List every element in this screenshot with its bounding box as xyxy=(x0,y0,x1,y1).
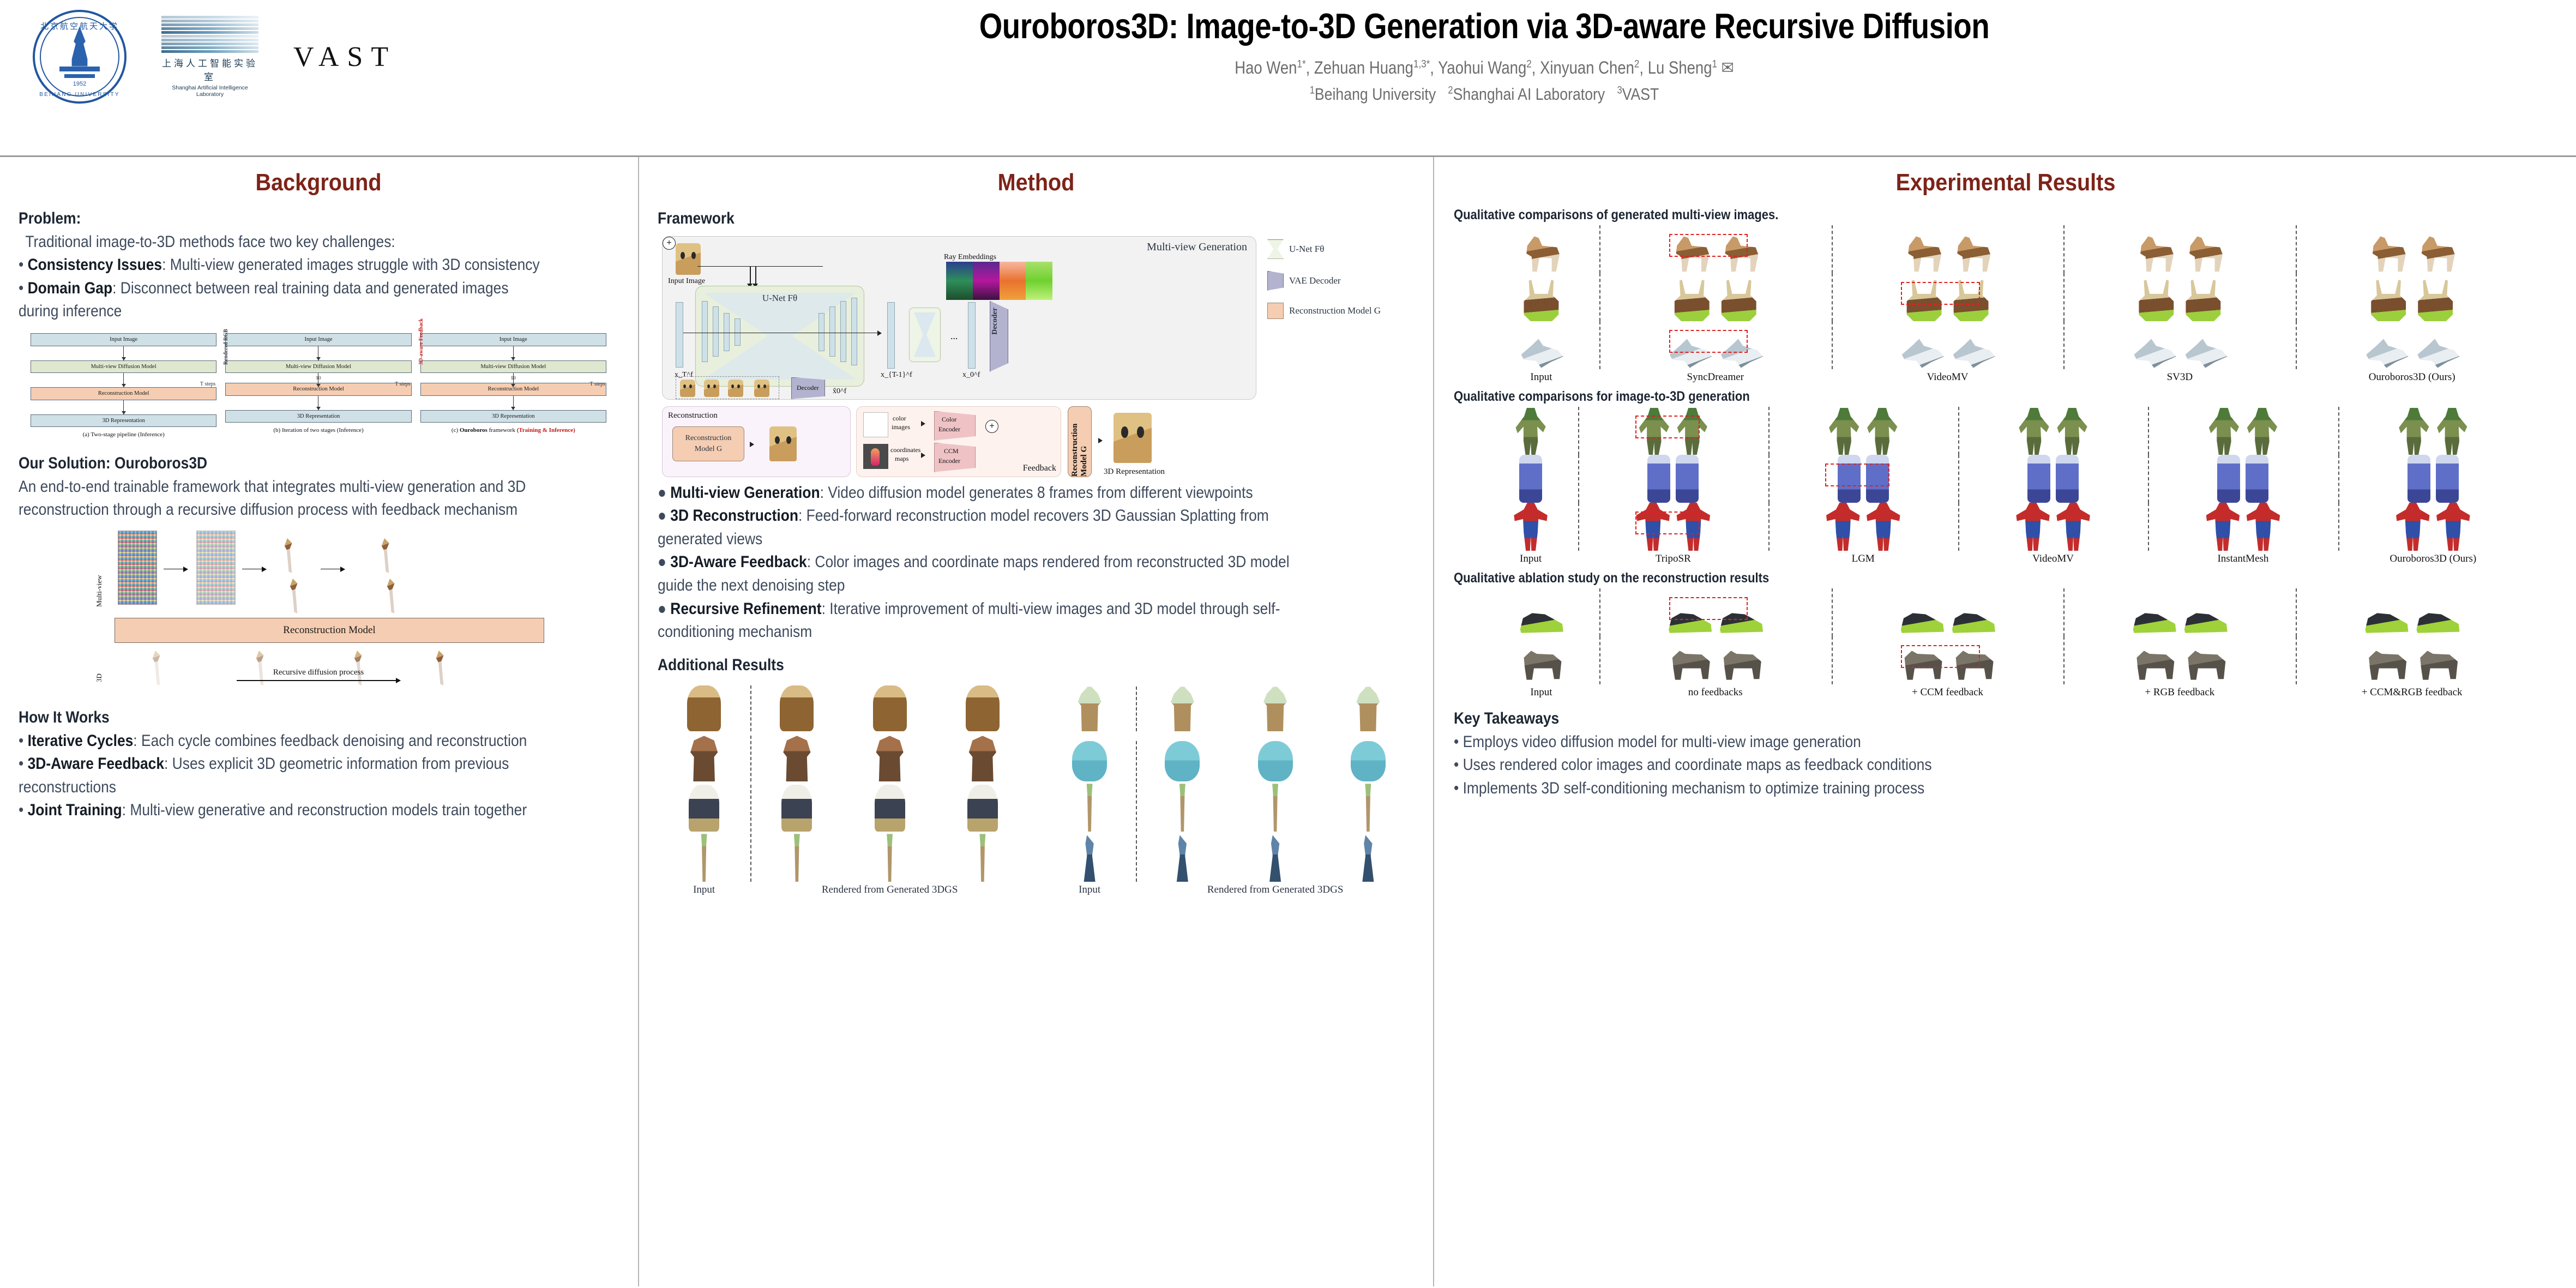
column-label: VideoMV xyxy=(1832,371,2064,383)
reconstruction-model-vertical-block: Reconstruction Model G xyxy=(1068,406,1092,477)
comparison-cell xyxy=(1578,503,1768,551)
beihang-university-logo-icon: 北京航空航天大学 1952 BEIHANG UNIVERSITY xyxy=(33,10,127,104)
pipeline-t-steps-label: T steps xyxy=(200,381,215,387)
comparison-cell xyxy=(1578,407,1768,455)
additional-results-row-item xyxy=(658,832,1029,882)
comparison-cell xyxy=(1483,321,1599,369)
reconstruction-panel-label: Reconstruction xyxy=(668,411,718,420)
column-divider xyxy=(2338,455,2339,503)
how-bullet-1: • 3D-Aware Feedback: Uses explicit 3D ge… xyxy=(19,753,546,799)
unet-block: U-Net Fθ xyxy=(695,286,864,387)
render-thumbnail xyxy=(1513,503,1548,551)
problem-bullet-0: • Consistency Issues: Multi-view generat… xyxy=(19,254,546,277)
ccm-encoder-label-1: CCM xyxy=(944,447,959,455)
how-bullet-2: • Joint Training: Multi-view generative … xyxy=(19,799,546,822)
comparison-cell xyxy=(2296,321,2528,369)
render-thumbnail xyxy=(1518,646,1564,684)
reconstruction-panel: Reconstruction Reconstruction Model G xyxy=(662,406,851,477)
comparison-cell xyxy=(1599,273,1832,321)
comparison-cell xyxy=(1958,407,2148,455)
render-thumbnail xyxy=(787,834,806,882)
comparison-cell xyxy=(1599,636,1832,684)
decoder-vertical-label: Decoder xyxy=(991,308,1000,335)
comparison-cell xyxy=(1483,273,1599,321)
poster-header: 北京航空航天大学 1952 BEIHANG UNIVERSITY 上海人工智能实… xyxy=(0,0,2576,157)
comparison-cell xyxy=(1483,455,1578,503)
color-images-label-2: images xyxy=(892,423,910,431)
highlight-box xyxy=(1669,234,1748,257)
render-thumbnail xyxy=(2363,608,2409,636)
comparison-cell xyxy=(2063,321,2296,369)
render-thumbnail xyxy=(1718,646,1764,684)
highlight-box xyxy=(1825,464,1889,486)
render-thumbnail xyxy=(1165,741,1200,781)
column-divider xyxy=(1958,407,1959,455)
pipeline-node-3: 3D Representation xyxy=(31,414,216,428)
render-thumbnail xyxy=(2363,646,2409,684)
render-thumbnail xyxy=(2398,408,2430,455)
render-thumbnail xyxy=(2056,455,2079,503)
additional-results-cell xyxy=(1043,687,1136,731)
comparison-grid: InputTripoSRLGMVideoMVInstantMeshOurobor… xyxy=(1483,407,2528,565)
additional-results-cell xyxy=(936,834,1029,882)
comparison-grid: Inputno feedbacks+ CCM feedback+ RGB fee… xyxy=(1483,588,2528,699)
comparison-cell xyxy=(2338,407,2528,455)
additional-results-cell xyxy=(936,785,1029,832)
column-divider xyxy=(1832,636,1833,684)
recursive-diffusion-figure: Multi-view 3D Reconstruction Model Recur… xyxy=(89,526,547,690)
render-thumbnail xyxy=(689,785,719,832)
pipeline-t-steps-label: T steps xyxy=(395,381,410,387)
render-thumbnail xyxy=(2135,280,2177,321)
column-divider xyxy=(2148,503,2149,551)
results-block2-grid: InputTripoSRLGMVideoMVInstantMeshOurobor… xyxy=(1454,407,2557,565)
pipeline-node-2: Reconstruction Model xyxy=(31,387,216,400)
input-image-label: Input Image xyxy=(668,277,705,286)
buaa-year: 1952 xyxy=(33,81,127,87)
render-thumbnail xyxy=(1667,646,1713,684)
comparison-cell xyxy=(1832,588,2064,636)
render-thumbnail xyxy=(2415,234,2458,273)
pipeline-node-3: 3D Representation xyxy=(420,410,606,423)
comparison-row xyxy=(1483,321,2528,369)
ray-embeddings-swatch xyxy=(946,262,1052,300)
affiliation-list: 1Beihang University 2Shanghai AI Laborat… xyxy=(564,85,2405,104)
render-thumbnail xyxy=(1826,503,1861,551)
additional-results-cell xyxy=(1229,741,1322,781)
comparison-cell xyxy=(1832,225,2064,273)
column-divider xyxy=(1958,455,1959,503)
render-thumbnail xyxy=(2131,338,2177,369)
column-divider xyxy=(1599,588,1600,636)
solution-heading: Our Solution: Ouroboros3D xyxy=(19,452,546,476)
additional-results-cell xyxy=(844,736,936,781)
legend-vae-icon xyxy=(1267,271,1284,291)
column-divider xyxy=(1136,687,1137,731)
pipeline-t-steps-label: T steps xyxy=(590,381,605,387)
column-divider xyxy=(1578,503,1579,551)
comparison-row xyxy=(1483,503,2528,551)
ray-embeddings-label: Ray Embeddings xyxy=(944,253,996,262)
column-divider xyxy=(1599,225,1600,273)
comparison-cell xyxy=(2063,636,2296,684)
render-thumbnail xyxy=(2408,455,2430,503)
pipeline-rendered-rgb-label: Rendered RGB xyxy=(223,329,229,365)
latent-x0-label: x_0^f xyxy=(962,371,980,380)
render-thumbnail xyxy=(1259,687,1292,731)
additional-label-rendered: Rendered from Generated 3DGS xyxy=(1136,884,1415,896)
column-label: Input xyxy=(1483,553,1578,565)
reconstructed-object-thumbnail xyxy=(769,426,797,461)
framework-legend: U-Net Fθ VAE Decoder Reconstruction Mode… xyxy=(1267,239,1398,331)
recursive-figure-caption: Recursive diffusion process xyxy=(89,668,547,681)
render-thumbnail xyxy=(687,685,721,731)
column-label: VideoMV xyxy=(1958,553,2148,565)
additional-results-cell xyxy=(750,736,843,781)
key-takeaways-list: • Employs video diffusion model for mult… xyxy=(1454,731,2557,801)
legend-label-1: VAE Decoder xyxy=(1289,275,1341,286)
key-takeaways-heading: Key Takeaways xyxy=(1454,707,2425,731)
render-thumbnail xyxy=(967,785,998,832)
additional-results-row-item xyxy=(658,681,1029,731)
render-thumbnail xyxy=(1352,687,1385,731)
column-label: LGM xyxy=(1768,553,1958,565)
takeaway-1: • Uses rendered color images and coordin… xyxy=(1454,754,2425,777)
column-divider xyxy=(1832,588,1833,636)
comparison-cell xyxy=(2338,455,2528,503)
vast-logo-icon: VAST xyxy=(293,41,396,73)
xhat-label: x̂0^f xyxy=(833,387,846,396)
render-thumbnail xyxy=(2182,234,2226,273)
render-thumbnail xyxy=(695,834,713,882)
column-label: SV3D xyxy=(2063,371,2296,383)
additional-results-cell xyxy=(1043,835,1136,882)
render-thumbnail xyxy=(2217,455,2240,503)
additional-label-input: Input xyxy=(658,884,750,896)
column-label-row: InputTripoSRLGMVideoMVInstantMeshOurobor… xyxy=(1483,553,2528,565)
render-thumbnail xyxy=(2182,280,2224,321)
reconstruction-model-line2: Model G xyxy=(695,444,722,455)
render-thumbnail xyxy=(2366,234,2409,273)
comparison-cell xyxy=(2296,273,2528,321)
additional-results-cell xyxy=(750,785,843,832)
figure-row-label-multiview: Multi-view xyxy=(95,575,104,607)
how-it-works-heading: How It Works xyxy=(19,706,546,730)
pipeline-caption-0: (a) Two-stage pipeline (Inference) xyxy=(31,431,216,438)
results-block3-grid: Inputno feedbacks+ CCM feedback+ RGB fee… xyxy=(1454,588,2557,699)
color-encoder-label-2: Encoder xyxy=(938,425,960,434)
additional-results-cell xyxy=(1322,687,1415,731)
unet-label: U-Net Fθ xyxy=(696,293,864,304)
render-thumbnail xyxy=(966,685,1000,731)
method-bullet-0: ● Multi-view Generation: Video diffusion… xyxy=(658,482,1323,505)
render-thumbnail xyxy=(2133,234,2177,273)
comparison-row xyxy=(1483,455,2528,503)
addition-node-icon: + xyxy=(663,237,676,250)
comparison-cell xyxy=(1483,407,1578,455)
comparison-cell xyxy=(2063,588,2296,636)
column-divider xyxy=(1578,407,1579,455)
additional-results-labels: InputRendered from Generated 3DGS xyxy=(1043,884,1415,896)
column-divider xyxy=(750,834,751,882)
render-thumbnail xyxy=(2131,608,2177,636)
render-thumbnail xyxy=(780,685,814,731)
render-thumbnail xyxy=(2415,280,2456,321)
comparison-cell xyxy=(1599,588,1832,636)
ellipsis-label: ... xyxy=(950,330,958,342)
pipeline-node-1: Multi-view Diffusion Model xyxy=(420,360,606,374)
render-thumbnail xyxy=(2205,503,2240,551)
comparison-cell xyxy=(1578,455,1768,503)
sail-english-name: Shanghai Artificial Intelligence Laborat… xyxy=(158,85,262,98)
render-thumbnail xyxy=(1718,280,1760,321)
comparison-cell xyxy=(2148,503,2338,551)
column-label: Input xyxy=(1483,687,1599,699)
additional-results-cell xyxy=(1136,687,1229,731)
render-thumbnail xyxy=(1355,835,1381,882)
column-divider xyxy=(2063,588,2065,636)
additional-results-row-item xyxy=(1043,731,1415,781)
input-image-thumbnail xyxy=(676,243,701,275)
solution-text: An end-to-end trainable framework that i… xyxy=(19,476,546,522)
comparison-cell xyxy=(2063,225,2296,273)
color-images-stack xyxy=(863,412,888,437)
additional-results-cell xyxy=(1322,741,1415,781)
render-thumbnail xyxy=(1173,784,1191,832)
render-thumbnail xyxy=(2436,503,2471,551)
section-title-method: Method xyxy=(695,169,1376,196)
comparison-cell xyxy=(1483,588,1599,636)
additional-results-labels: InputRendered from Generated 3DGS xyxy=(658,884,1029,896)
render-thumbnail xyxy=(973,834,992,882)
column-divider xyxy=(1768,455,1770,503)
framework-diagram: Multi-view Generation Input Image Ray Em… xyxy=(662,236,1410,400)
column-label: TripoSR xyxy=(1578,553,1768,565)
comparison-cell xyxy=(1832,321,2064,369)
comparison-cell xyxy=(1958,455,2148,503)
feedback-sum-node-icon: + xyxy=(985,420,998,433)
page-title: Ouroboros3D: Image-to-3D Generation via … xyxy=(586,5,2383,47)
additional-results-cell xyxy=(844,685,936,731)
method-bullet-list: ● Multi-view Generation: Video diffusion… xyxy=(658,482,1415,644)
column-divider xyxy=(1832,321,1833,369)
column-divider xyxy=(1832,225,1833,273)
method-bullet-1: ● 3D Reconstruction: Feed-forward recons… xyxy=(658,504,1323,551)
render-thumbnail xyxy=(1828,408,1861,455)
comparison-grid: InputSyncDreamerVideoMVSV3DOuroboros3D (… xyxy=(1483,225,2528,383)
comparison-cell xyxy=(1483,636,1599,684)
latent-xTm1-label: x_{T-1}^f xyxy=(881,371,912,380)
render-thumbnail xyxy=(2363,338,2409,369)
method-bullet-3: ● Recursive Refinement: Iterative improv… xyxy=(658,598,1323,644)
column-divider xyxy=(2063,273,2065,321)
additional-results-cell xyxy=(844,834,936,882)
additional-results-cell xyxy=(658,685,750,731)
additional-results-row-item xyxy=(1043,832,1415,882)
render-thumbnail xyxy=(779,736,815,781)
comparison-cell xyxy=(2148,455,2338,503)
multiview-generation-panel: Multi-view Generation Input Image Ray Em… xyxy=(662,236,1256,400)
legend-unet-icon xyxy=(1267,239,1284,259)
additional-results-cell xyxy=(1322,784,1415,832)
additional-results-cell xyxy=(658,736,750,781)
column-divider xyxy=(1136,784,1137,832)
pipeline-variant-1: Input ImageMulti-view Diffusion Modelx̂0… xyxy=(225,333,411,438)
comparison-cell xyxy=(2148,407,2338,455)
pipeline-node-0: Input Image xyxy=(31,333,216,346)
column-divider xyxy=(2063,321,2065,369)
additional-label-input: Input xyxy=(1043,884,1136,896)
comparison-cell xyxy=(1483,503,1578,551)
column-divider xyxy=(1136,835,1137,882)
additional-results-block-0: InputRendered from Generated 3DGS xyxy=(658,681,1029,896)
additional-results-grids: InputRendered from Generated 3DGSInputRe… xyxy=(658,681,1415,896)
column-label: no feedbacks xyxy=(1599,687,1832,699)
pipeline-node-1: Multi-view Diffusion Model xyxy=(225,360,411,374)
ccm-encoder-label-2: Encoder xyxy=(938,457,960,465)
render-thumbnail xyxy=(2015,503,2050,551)
column-divider xyxy=(1599,321,1600,369)
column-label: SyncDreamer xyxy=(1599,371,1832,383)
additional-results-cell xyxy=(1229,784,1322,832)
framework-heading: Framework xyxy=(658,207,1323,231)
additional-results-cell xyxy=(750,834,843,882)
takeaway-0: • Employs video diffusion model for mult… xyxy=(1454,731,2425,754)
column-label-row: InputSyncDreamerVideoMVSV3DOuroboros3D (… xyxy=(1483,371,2528,383)
comparison-cell xyxy=(1768,407,1958,455)
additional-results-cell xyxy=(1136,835,1229,882)
comparison-cell xyxy=(2296,636,2528,684)
column-label: + CCM feedback xyxy=(1832,687,2064,699)
render-thumbnail xyxy=(2018,408,2050,455)
feedback-panel: color images Color Encoder coordinates m… xyxy=(856,406,1061,477)
column-label: Input xyxy=(1483,371,1599,383)
additional-results-cell xyxy=(1136,784,1229,832)
additional-label-rendered: Rendered from Generated 3DGS xyxy=(750,884,1029,896)
column-divider xyxy=(2296,321,2297,369)
additional-results-row-item xyxy=(658,731,1029,781)
highlight-box xyxy=(1635,416,1700,438)
additional-results-cell xyxy=(844,785,936,832)
additional-results-cell xyxy=(1043,741,1136,781)
render-thumbnail xyxy=(1262,835,1289,882)
column-divider xyxy=(2148,455,2149,503)
column-divider xyxy=(1578,455,1579,503)
render-thumbnail xyxy=(2368,280,2409,321)
pipeline-node-0: Input Image xyxy=(225,333,411,346)
comparison-cell xyxy=(1483,225,1599,273)
render-thumbnail xyxy=(2027,455,2050,503)
legend-label-2: Reconstruction Model G xyxy=(1289,305,1381,316)
render-thumbnail xyxy=(1899,608,1945,636)
render-thumbnail xyxy=(1166,687,1199,731)
render-thumbnail xyxy=(873,685,907,731)
render-thumbnail xyxy=(1514,408,1547,455)
column-divider xyxy=(1832,273,1833,321)
coordinates-label-1: coordinates xyxy=(890,446,920,454)
column-divider xyxy=(750,785,751,832)
pipeline-variant-0: Input ImageMulti-view Diffusion ModelRec… xyxy=(31,333,216,438)
additional-results-row: InputRendered from Generated 3DGSInputRe… xyxy=(658,681,1415,896)
column-divider xyxy=(2296,273,2297,321)
section-title-results: Experimental Results xyxy=(1509,169,2502,196)
render-thumbnail xyxy=(1901,234,1945,273)
highlight-box xyxy=(1669,597,1748,620)
column-method: Method Framework Multi-view Generation I… xyxy=(638,157,1434,1286)
column-divider xyxy=(2338,503,2339,551)
render-thumbnail xyxy=(1647,455,1670,503)
takeaway-2: • Implements 3D self-conditioning mechan… xyxy=(1454,777,2425,801)
render-thumbnail xyxy=(2246,503,2280,551)
pipeline-variant-2: Input ImageMulti-view Diffusion Modelx̂0… xyxy=(420,333,606,438)
buaa-english-name: BEIHANG UNIVERSITY xyxy=(33,92,127,98)
unet-small-block xyxy=(909,308,941,362)
render-thumbnail xyxy=(2415,646,2460,684)
highlight-box xyxy=(1635,511,1700,534)
render-thumbnail xyxy=(2207,408,2240,455)
column-label-row: Inputno feedbacks+ CCM feedback+ RGB fee… xyxy=(1483,687,2528,699)
results-block3-caption: Qualitative ablation study on the recons… xyxy=(1454,570,2425,586)
additional-results-block-1: InputRendered from Generated 3DGS xyxy=(1043,681,1415,896)
render-thumbnail xyxy=(781,785,812,832)
column-divider xyxy=(2296,636,2297,684)
additional-results-cell xyxy=(1043,784,1136,832)
comparison-row xyxy=(1483,225,2528,273)
pipeline-caption-1: (b) Iteration of two stages (Inference) xyxy=(225,427,411,434)
column-divider xyxy=(2063,636,2065,684)
column-label: + RGB feedback xyxy=(2063,687,2296,699)
legend-recon-icon xyxy=(1267,303,1284,319)
pipeline-caption-2: (c) Ouroboros framework (Training & Infe… xyxy=(420,427,606,434)
comparison-cell xyxy=(1768,455,1958,503)
render-thumbnail xyxy=(2246,455,2268,503)
render-thumbnail xyxy=(965,736,1001,781)
render-thumbnail xyxy=(872,736,908,781)
column-divider xyxy=(1599,636,1600,684)
pipeline-node-0: Input Image xyxy=(420,333,606,346)
render-thumbnail xyxy=(1676,455,1699,503)
render-thumbnail xyxy=(1359,784,1377,832)
column-results: Experimental Results Qualitative compari… xyxy=(1435,157,2576,1286)
comparison-cell xyxy=(1832,636,2064,684)
highlight-box xyxy=(1669,330,1748,353)
decoder-label: Decoder xyxy=(797,384,819,392)
reconstruction-model-block: Reconstruction Model xyxy=(115,618,544,643)
additional-results-cell xyxy=(1229,835,1322,882)
multiview-generation-title: Multi-view Generation xyxy=(1147,241,1247,254)
pipeline-feedback-label: 3D-aware Feedback xyxy=(418,318,424,365)
additional-results-cell xyxy=(1229,687,1322,731)
3d-representation-label: 3D Representation xyxy=(1104,467,1165,477)
coordinate-maps-stack xyxy=(863,444,888,469)
render-thumbnail xyxy=(1518,338,1564,369)
render-thumbnail xyxy=(1951,608,1996,636)
render-thumbnail xyxy=(2415,338,2460,369)
problem-heading: Problem: xyxy=(19,207,546,231)
final-3d-representation-thumbnail xyxy=(1114,413,1152,463)
comparison-row xyxy=(1483,636,2528,684)
column-divider xyxy=(2063,225,2065,273)
comparison-cell xyxy=(2296,588,2528,636)
column-divider xyxy=(1599,273,1600,321)
additional-results-cell xyxy=(1136,741,1229,781)
render-thumbnail xyxy=(1951,338,1996,369)
reconstruction-model-line1: Reconstruction xyxy=(685,433,732,444)
column-divider xyxy=(750,685,751,731)
legend-label-0: U-Net Fθ xyxy=(1289,244,1324,255)
render-thumbnail xyxy=(881,834,899,882)
column-divider xyxy=(2296,588,2297,636)
